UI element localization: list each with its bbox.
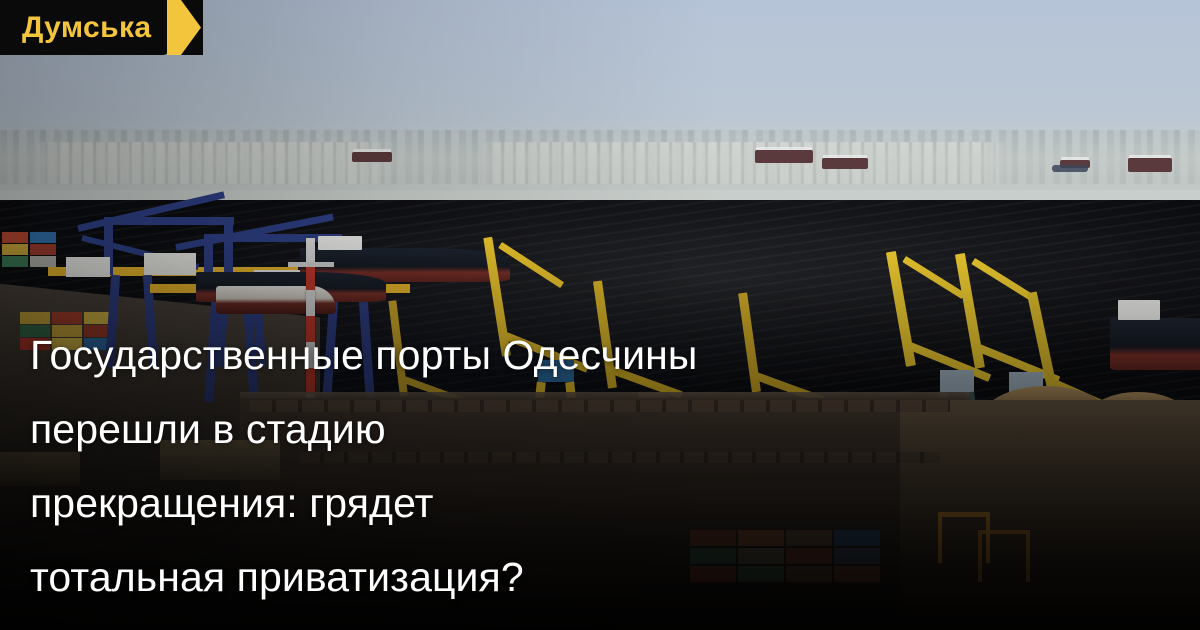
- site-logo-badge[interactable]: Думська: [0, 0, 203, 55]
- logo-plate: Думська: [0, 0, 169, 55]
- headline-line-4: тотальная приватизация?: [30, 540, 1010, 614]
- logo-text: Думська: [22, 13, 151, 43]
- social-share-card: Думська Государственные порты Одесчины п…: [0, 0, 1200, 630]
- headline-line-1: Государственные порты Одесчины: [30, 318, 1010, 392]
- chevron-right-icon: [169, 0, 203, 55]
- headline: Государственные порты Одесчины перешли в…: [30, 318, 1010, 614]
- headline-line-2: перешли в стадию: [30, 392, 1010, 466]
- headline-line-3: прекращения: грядет: [30, 466, 1010, 540]
